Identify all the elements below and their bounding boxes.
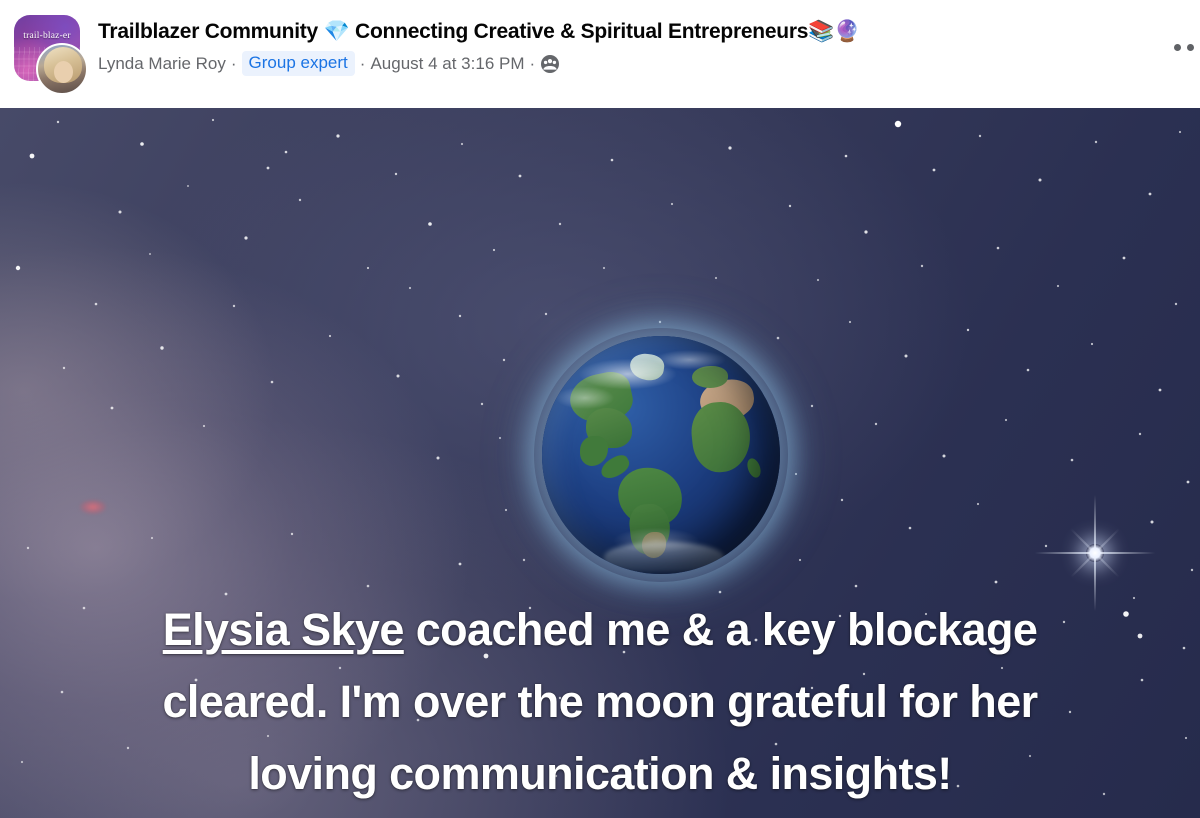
status-badge[interactable]: Group expert [242,51,355,76]
media-caption-line-2: cleared. I'm over the moon grateful for … [60,666,1140,738]
facebook-post: trail-blaz-er Trailblazer Community 💎 Co… [0,0,1200,818]
coach-name-underlined[interactable]: Elysia Skye [163,604,404,655]
post-header-text: Trailblazer Community 💎 Connecting Creat… [98,12,1184,76]
post-media-image[interactable]: Elysia Skye coached me & a key blockage … [0,108,1200,818]
more-options-icon[interactable] [1170,40,1198,55]
media-caption-line-1: Elysia Skye coached me & a key blockage [60,594,1140,666]
star-core [1086,544,1104,562]
menu-dot-2 [1187,44,1194,51]
group-logo-text: trail-blaz-er [14,31,80,41]
post-timestamp[interactable]: August 4 at 3:16 PM [370,53,524,75]
author-profile-photo[interactable] [36,43,88,95]
group-title-part1: Trailblazer Community [98,20,324,43]
media-caption-line-1-rest: coached me & a key blockage [404,604,1038,655]
earth-terminator-shading [542,336,780,574]
author-name[interactable]: Lynda Marie Roy [98,53,226,75]
media-caption: Elysia Skye coached me & a key blockage … [0,594,1200,810]
menu-dot-1 [1174,44,1181,51]
meta-separator-1: · [231,53,237,75]
post-meta: Lynda Marie Roy · Group expert · August … [98,51,1184,76]
group-title[interactable]: Trailblazer Community 💎 Connecting Creat… [98,18,1184,45]
diamond-icon: 💎 [324,19,350,43]
crystal-ball-icon: 🔮 [834,19,860,43]
avatar[interactable]: trail-blaz-er [10,13,88,95]
group-title-part2: Connecting Creative & Spiritual Entrepre… [349,20,808,43]
media-caption-line-3: loving communication & insights! [60,738,1140,810]
meta-separator-3: · [530,53,536,75]
post-header: trail-blaz-er Trailblazer Community 💎 Co… [0,0,1200,108]
group-members-privacy-icon[interactable] [540,54,560,74]
earth-globe [542,336,780,574]
books-icon: 📚 [808,19,834,43]
meta-separator-2: · [360,53,366,75]
profile-photo-face [54,61,73,83]
